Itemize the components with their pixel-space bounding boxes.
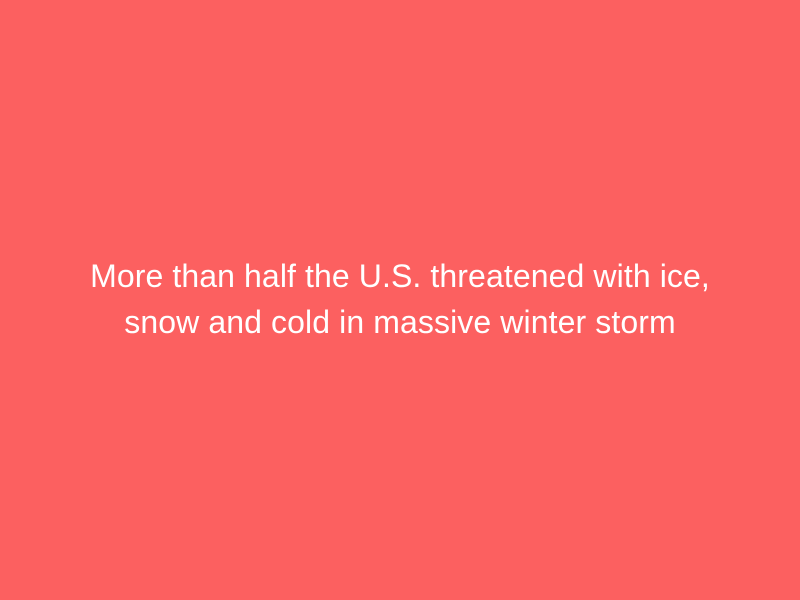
headline-block: More than half the U.S. threatened with … [0, 253, 800, 345]
placeholder-image-card: More than half the U.S. threatened with … [0, 0, 800, 600]
headline-title: More than half the U.S. threatened with … [70, 253, 730, 345]
